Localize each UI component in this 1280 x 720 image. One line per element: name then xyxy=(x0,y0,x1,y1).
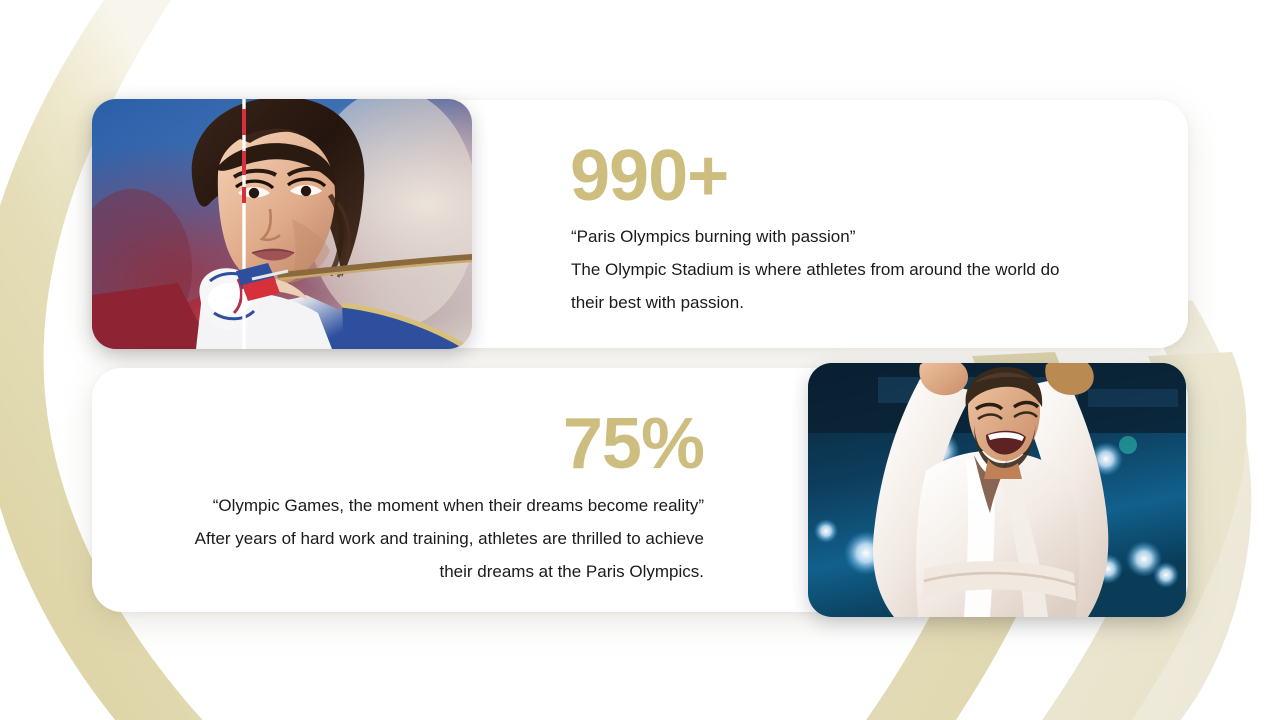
description-line: their best with passion. xyxy=(571,286,1131,319)
description-line: “Paris Olympics burning with passion” xyxy=(571,220,1131,253)
stat-description-card-two: “Olympic Games, the moment when their dr… xyxy=(100,489,704,588)
description-line: their dreams at the Paris Olympics. xyxy=(100,555,704,588)
archery-photo xyxy=(92,99,472,349)
description-line: After years of hard work and training, a… xyxy=(100,522,704,555)
description-line: The Olympic Stadium is where athletes fr… xyxy=(571,253,1131,286)
description-line: “Olympic Games, the moment when their dr… xyxy=(100,489,704,522)
stat-description-card-one: “Paris Olympics burning with passion” Th… xyxy=(571,220,1131,319)
stat-value-card-one: 990+ xyxy=(570,140,728,212)
judo-photo xyxy=(808,363,1186,617)
stat-value-card-two: 75% xyxy=(300,408,704,480)
slide-canvas: 990+ “Paris Olympics burning with passio… xyxy=(0,0,1280,720)
